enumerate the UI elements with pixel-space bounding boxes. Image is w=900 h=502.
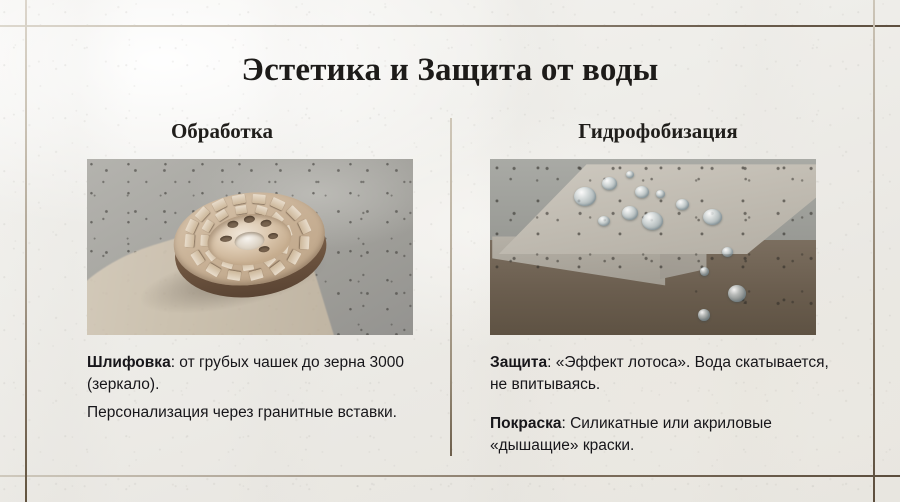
body-text-processing: Шлифовка: от грубых чашек до зерна 3000 … [87, 352, 427, 424]
paragraph-lead: Защита [490, 354, 547, 371]
water-droplet [598, 216, 610, 226]
water-droplet [722, 247, 733, 257]
water-droplet [656, 190, 665, 198]
paragraph-lead: Шлифовка [87, 354, 171, 371]
paragraph-lead: Покраска [490, 415, 561, 432]
water-droplet [635, 186, 649, 198]
paragraph: Персонализация через гранитные вставки. [87, 402, 427, 424]
water-droplet [700, 267, 709, 276]
water-beading-concrete-slab-photo [490, 159, 816, 335]
paragraph: Шлифовка: от грубых чашек до зерна 3000 … [87, 352, 427, 396]
column-heading-processing: Обработка [32, 116, 412, 146]
diamond-cup-grinding-wheel-photo [87, 159, 413, 335]
frame-line-bottom [0, 475, 900, 477]
frame-line-top [0, 25, 900, 27]
grinding-wheel-body [168, 184, 332, 306]
slide-title: Эстетика и Защита от воды [0, 52, 900, 89]
slide-canvas: Эстетика и Защита от воды Обработка [0, 0, 900, 502]
water-droplet [602, 177, 617, 190]
wheel-segment [300, 236, 310, 249]
water-droplet [642, 212, 663, 230]
paragraph-text: Персонализация через гранитные вставки. [87, 404, 397, 421]
wheel-segment [227, 270, 241, 281]
wheel-segment [252, 194, 266, 204]
column-heading-hydrophobization: Гидрофобизация [468, 116, 848, 146]
falling-water-droplet [728, 285, 746, 302]
paragraph: Покраска: Силикатные или акриловые «дыша… [490, 413, 830, 457]
body-text-hydrophobization: Защита: «Эффект лотоса». Вода скатываетс… [490, 352, 830, 457]
water-droplet [574, 187, 596, 206]
water-droplet [703, 209, 722, 225]
column-divider [450, 118, 452, 456]
paragraph: Защита: «Эффект лотоса». Вода скатываетс… [490, 352, 830, 396]
column-processing: Обработка [32, 110, 412, 424]
wheel-segment-inner [235, 205, 247, 215]
falling-water-droplet [698, 309, 710, 321]
column-hydrophobization: Гидрофобизация [468, 110, 848, 457]
water-droplet [622, 206, 638, 220]
water-droplet [626, 171, 634, 178]
water-droplet [676, 199, 689, 210]
columns-container: Обработка [0, 110, 900, 460]
wheel-segment [184, 234, 194, 248]
